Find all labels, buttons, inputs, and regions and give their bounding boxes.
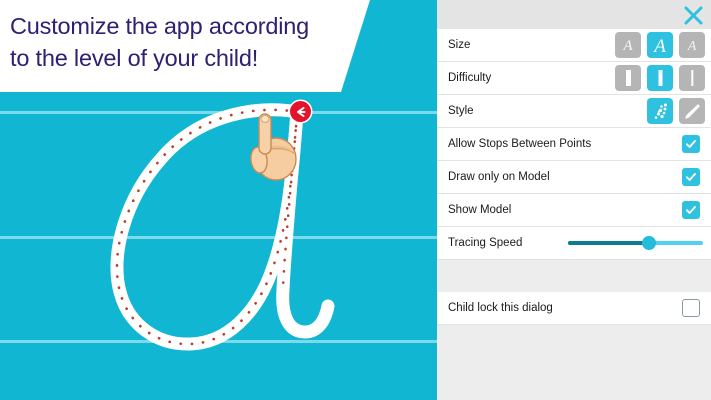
tracing-speed-slider[interactable] bbox=[568, 233, 703, 253]
letter-a-small-icon: A bbox=[620, 36, 636, 54]
dots-trail-icon bbox=[651, 102, 670, 121]
setting-row-difficulty[interactable]: Difficulty bbox=[437, 62, 711, 95]
setting-row-size[interactable]: Size A A A bbox=[437, 29, 711, 62]
close-icon bbox=[684, 6, 703, 25]
setting-row-tracing-speed[interactable]: Tracing Speed bbox=[437, 227, 711, 260]
setting-label-difficulty: Difficulty bbox=[437, 72, 491, 84]
check-icon bbox=[685, 138, 697, 150]
start-point-marker bbox=[290, 101, 311, 122]
panel-bottom-fill bbox=[437, 325, 711, 370]
arrow-left-icon bbox=[294, 106, 307, 118]
bar-wide-icon bbox=[623, 69, 633, 87]
speech-banner: Customize the app according to the level… bbox=[0, 0, 370, 92]
panel-titlebar bbox=[437, 0, 711, 29]
draw-only-on-model-checkbox[interactable] bbox=[682, 168, 700, 186]
difficulty-option-hard[interactable] bbox=[679, 65, 705, 91]
svg-text:A: A bbox=[622, 38, 633, 54]
setting-label-show-model: Show Model bbox=[437, 204, 511, 216]
style-option-pencil[interactable] bbox=[679, 98, 705, 124]
allow-stops-control bbox=[682, 128, 711, 160]
panel-spacer bbox=[437, 260, 711, 292]
bar-medium-icon bbox=[655, 69, 665, 87]
style-option-group bbox=[647, 95, 711, 127]
tracing-speed-control bbox=[568, 227, 711, 259]
setting-label-size: Size bbox=[437, 39, 470, 51]
close-button[interactable] bbox=[680, 3, 706, 27]
size-option-group: A A A bbox=[615, 29, 711, 61]
setting-row-child-lock[interactable]: Child lock this dialog bbox=[437, 292, 711, 325]
svg-text:A: A bbox=[687, 39, 697, 53]
app-root: Customize the app according to the level… bbox=[0, 0, 711, 400]
allow-stops-checkbox[interactable] bbox=[682, 135, 700, 153]
pencil-icon bbox=[683, 102, 702, 121]
setting-label-allow-stops: Allow Stops Between Points bbox=[437, 138, 591, 150]
setting-label-tracing-speed: Tracing Speed bbox=[437, 237, 522, 249]
setting-row-style[interactable]: Style bbox=[437, 95, 711, 128]
letter-a-medium-icon: A bbox=[651, 35, 669, 55]
slider-thumb[interactable] bbox=[642, 236, 656, 250]
check-icon bbox=[685, 204, 697, 216]
slider-fill bbox=[568, 241, 649, 245]
draw-only-on-model-control bbox=[682, 161, 711, 193]
setting-row-allow-stops[interactable]: Allow Stops Between Points bbox=[437, 128, 711, 161]
difficulty-option-medium[interactable] bbox=[647, 65, 673, 91]
setting-label-draw-only-on-model: Draw only on Model bbox=[437, 171, 550, 183]
settings-panel: Size A A A bbox=[437, 0, 711, 400]
banner-text: Customize the app according to the level… bbox=[10, 10, 370, 74]
setting-label-style: Style bbox=[437, 105, 474, 117]
svg-text:A: A bbox=[652, 36, 666, 55]
show-model-control bbox=[682, 194, 711, 226]
difficulty-option-group bbox=[615, 62, 711, 94]
style-option-dots[interactable] bbox=[647, 98, 673, 124]
setting-row-show-model[interactable]: Show Model bbox=[437, 194, 711, 227]
show-model-checkbox[interactable] bbox=[682, 201, 700, 219]
size-option-medium[interactable]: A bbox=[647, 32, 673, 58]
size-option-small[interactable]: A bbox=[615, 32, 641, 58]
size-option-large[interactable]: A bbox=[679, 32, 705, 58]
child-lock-checkbox[interactable] bbox=[682, 299, 700, 317]
letter-a-thin-icon: A bbox=[685, 37, 699, 53]
difficulty-option-easy[interactable] bbox=[615, 65, 641, 91]
check-icon bbox=[685, 171, 697, 183]
setting-row-draw-only-on-model[interactable]: Draw only on Model bbox=[437, 161, 711, 194]
bar-thin-icon bbox=[687, 69, 697, 87]
setting-label-child-lock: Child lock this dialog bbox=[437, 302, 553, 314]
child-lock-control bbox=[682, 292, 711, 324]
tracing-canvas[interactable]: Customize the app according to the level… bbox=[0, 0, 437, 400]
